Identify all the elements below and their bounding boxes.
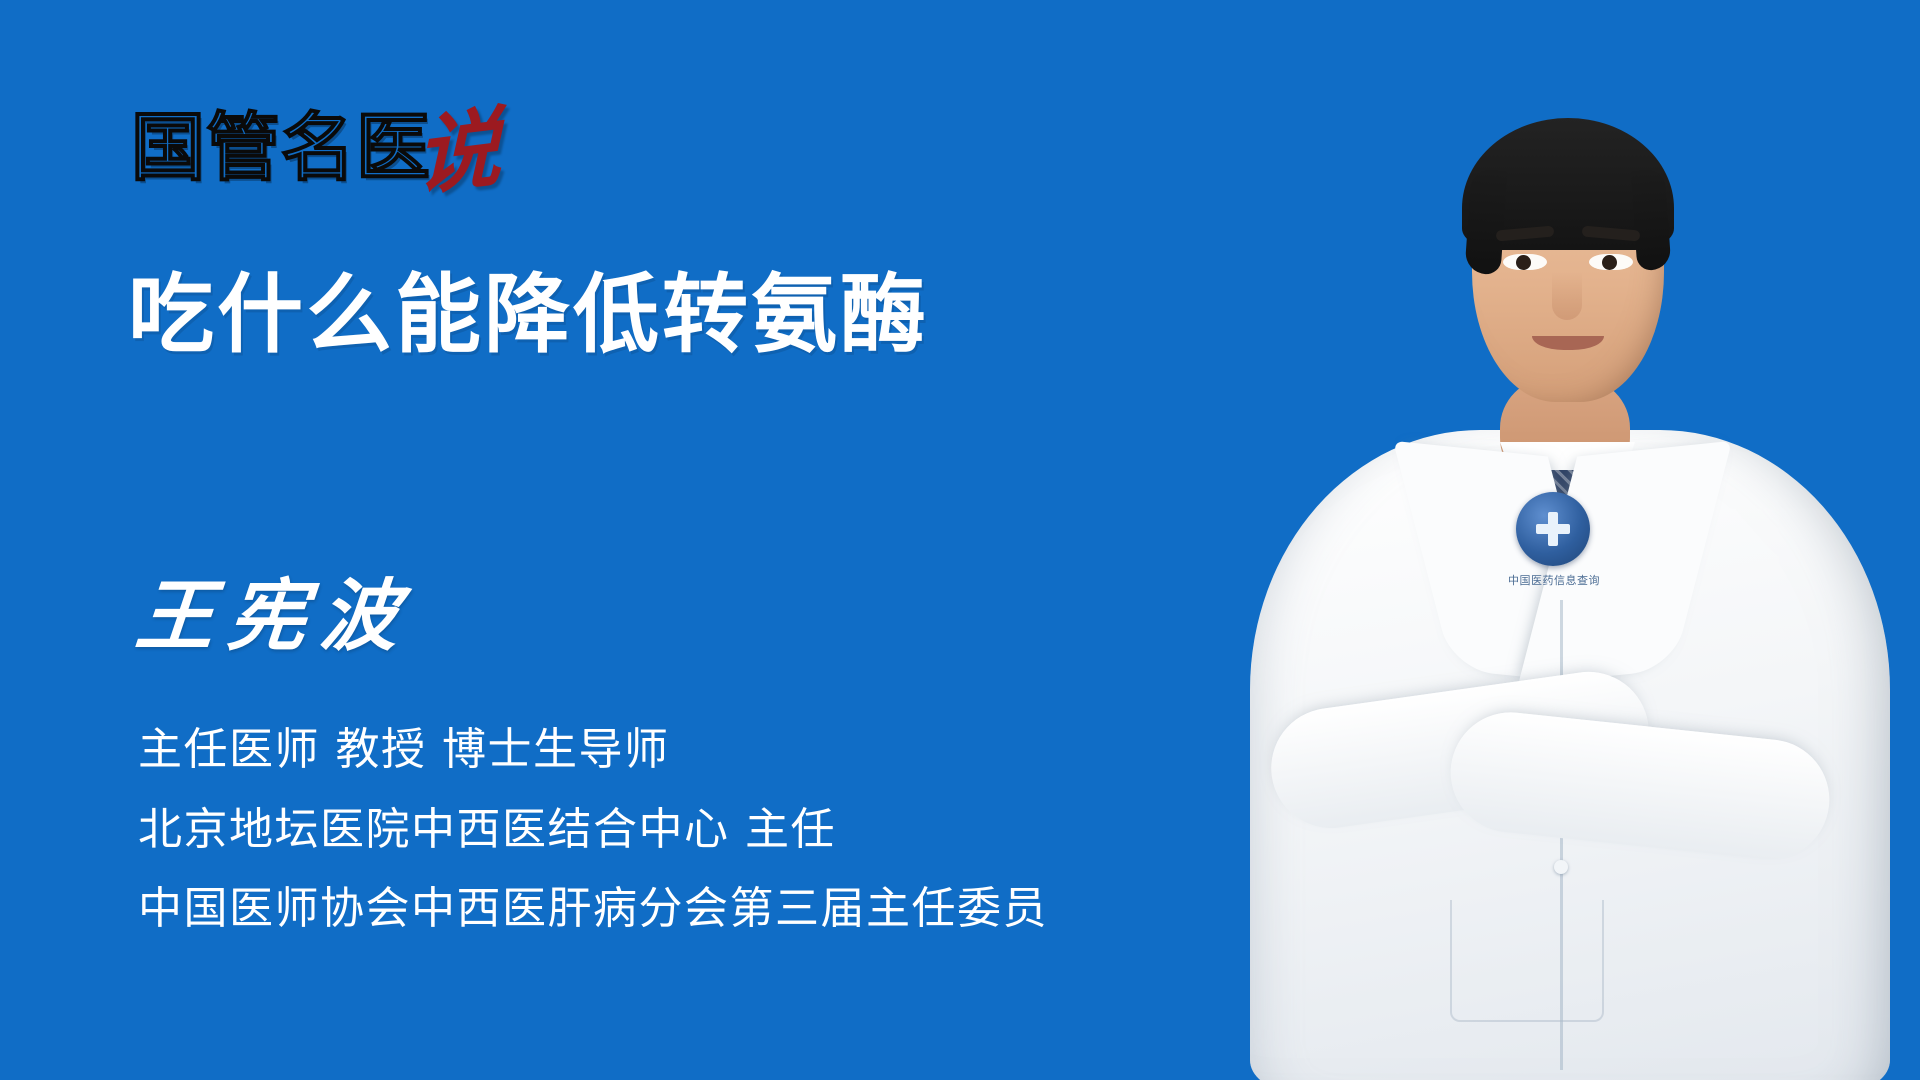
badge-caption: 中国医药信息查询	[1492, 572, 1616, 588]
doctor-name: 王宪波	[133, 578, 416, 656]
credential-line: 北京地坛医院中西医结合中心 主任	[138, 806, 1048, 854]
credential-line: 主任医师 教授 博士生导师	[138, 726, 1048, 774]
doctor-portrait: 中国医药信息查询	[1200, 0, 1920, 1080]
medical-cross-icon	[1516, 492, 1590, 566]
program-logo-accent-character: 说	[415, 111, 502, 196]
program-logo-main-text: 国管名医	[131, 113, 431, 184]
poster-canvas: 国管名医 说 吃什么能降低转氨酶 王宪波 主任医师 教授 博士生导师 北京地坛医…	[0, 0, 1920, 1080]
coat-pocket	[1450, 900, 1604, 1022]
credential-line: 中国医师协会中西医肝病分会第三届主任委员	[138, 885, 1048, 933]
nose	[1552, 272, 1582, 320]
eye-left	[1503, 254, 1547, 270]
cross-glyph	[1536, 512, 1570, 546]
coat-button	[1554, 860, 1568, 874]
episode-title: 吃什么能降低转氨酶	[128, 270, 929, 360]
program-logo: 国管名医 说	[131, 88, 501, 184]
hair	[1462, 118, 1674, 250]
eye-right	[1589, 254, 1633, 270]
doctor-credentials: 主任医师 教授 博士生导师 北京地坛医院中西医结合中心 主任 中国医师协会中西医…	[138, 726, 1048, 933]
